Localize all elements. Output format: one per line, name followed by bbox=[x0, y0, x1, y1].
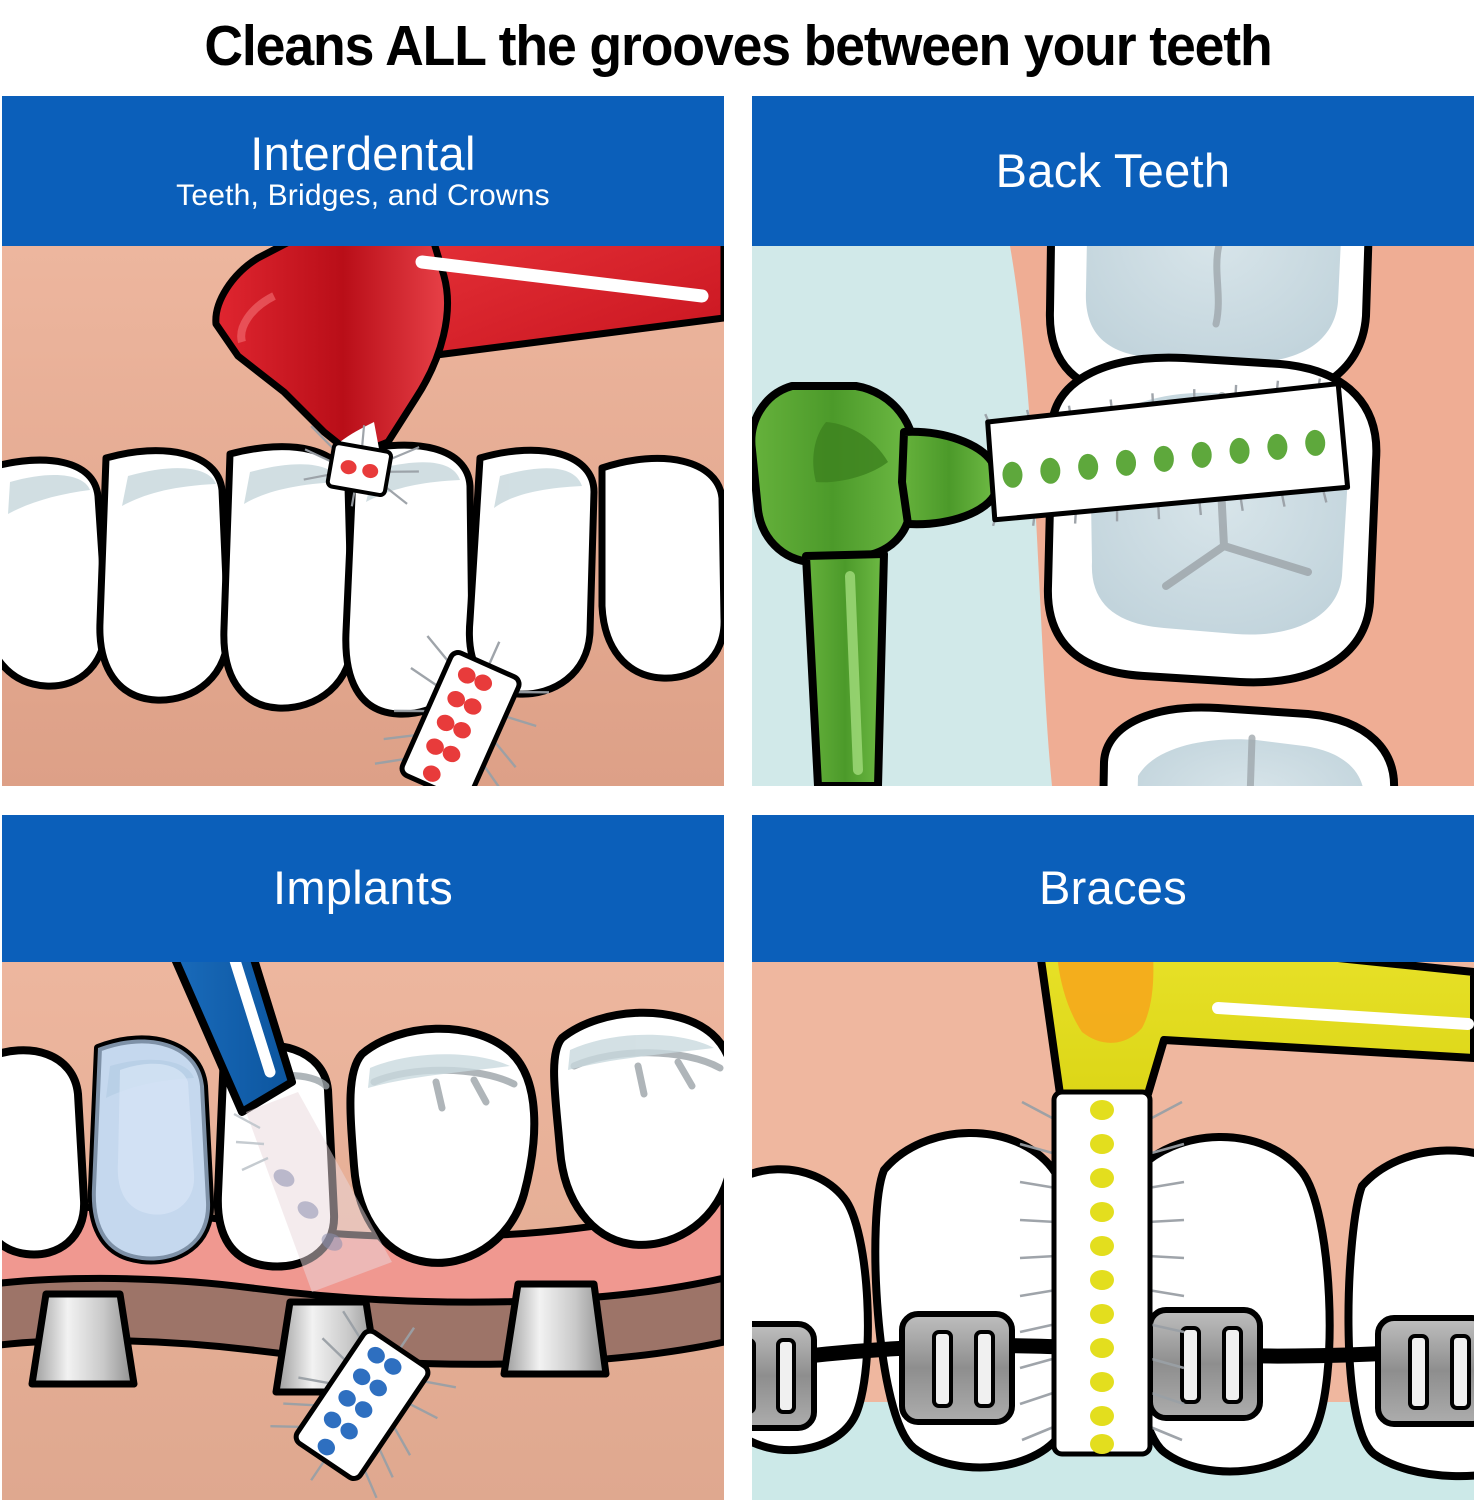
panel-interdental-title: Interdental bbox=[250, 130, 475, 178]
panel-interdental-subtitle: Teeth, Bridges, and Crowns bbox=[176, 180, 550, 212]
implant-post bbox=[32, 1294, 134, 1384]
panel-implants-banner: Implants bbox=[2, 815, 724, 962]
panel-back-teeth-illustration bbox=[752, 246, 1474, 786]
panel-interdental[interactable]: Interdental Teeth, Bridges, and Crowns bbox=[2, 96, 724, 786]
panel-grid: Interdental Teeth, Bridges, and Crowns bbox=[0, 96, 1476, 1500]
panel-braces-banner: Braces bbox=[752, 815, 1474, 962]
bracket bbox=[752, 1324, 814, 1428]
panel-interdental-illustration bbox=[2, 246, 724, 786]
panel-braces[interactable]: Braces bbox=[752, 815, 1474, 1500]
panel-back-teeth[interactable]: Back Teeth bbox=[752, 96, 1474, 786]
panel-implants-illustration bbox=[2, 962, 724, 1500]
panel-back-teeth-title: Back Teeth bbox=[996, 147, 1231, 195]
panel-braces-title: Braces bbox=[1039, 864, 1187, 912]
bracket bbox=[1378, 1318, 1474, 1424]
page-title: Cleans ALL the grooves between your teet… bbox=[44, 0, 1431, 92]
implant-posts bbox=[32, 1284, 606, 1392]
panel-implants-title: Implants bbox=[273, 864, 453, 912]
bracket bbox=[902, 1314, 1012, 1422]
panel-interdental-banner: Interdental Teeth, Bridges, and Crowns bbox=[2, 96, 724, 246]
implant-post bbox=[504, 1284, 606, 1374]
panel-back-teeth-banner: Back Teeth bbox=[752, 96, 1474, 246]
panel-braces-illustration bbox=[752, 962, 1474, 1500]
panel-implants[interactable]: Implants bbox=[2, 815, 724, 1500]
infographic-page: Cleans ALL the grooves between your teet… bbox=[0, 0, 1476, 1500]
